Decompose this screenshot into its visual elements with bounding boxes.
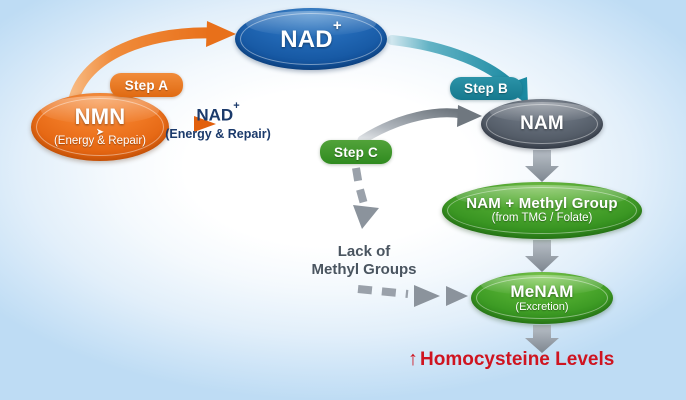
node-nad-plus-superscript: + [333, 17, 342, 34]
node-menam[interactable]: MeNAM (Excretion) [471, 272, 613, 324]
node-nam-methyl-group[interactable]: NAM + Methyl Group (from TMG / Folate) [442, 182, 642, 239]
lack-to-menam-dashed-arrow [358, 285, 468, 307]
node-nad-plus[interactable]: NAD+ [235, 8, 387, 70]
node-menam-title: MeNAM [510, 283, 573, 300]
label-nad-plus-text: NAD [196, 106, 233, 125]
label-nad-plus-main: NAD+ [148, 105, 288, 126]
label-lack-line1: Lack of [291, 243, 437, 261]
node-nad-plus-title: NAD+ [280, 26, 342, 52]
node-nam-title: NAM [520, 114, 564, 133]
node-menam-subtitle: (Excretion) [515, 302, 568, 313]
methyl-to-menam-arrow [525, 240, 559, 272]
up-arrow-icon: ↑ [408, 348, 418, 370]
label-nad-plus-superscript: + [233, 100, 239, 112]
stepc-down-dashed-arrow [353, 168, 379, 229]
label-homocysteine-levels: ↑Homocysteine Levels [408, 348, 658, 371]
label-nad-plus-energy-repair: NAD+ (Energy & Repair) [148, 105, 288, 141]
node-nmn-subtitle: (Energy & Repair) [54, 136, 146, 148]
node-nam-methyl-title: NAM + Methyl Group [466, 196, 618, 211]
badge-step-a[interactable]: Step A [110, 73, 183, 97]
nam-to-methyl-arrow [525, 150, 559, 182]
pathway-diagram: NMN ➤ (Energy & Repair) NAD+ NAM NAM + M… [0, 0, 686, 400]
node-nam[interactable]: NAM [481, 99, 603, 149]
node-nam-methyl-subtitle: (from TMG / Folate) [492, 213, 593, 225]
label-lack-of-methyl-groups: Lack of Methyl Groups [291, 243, 437, 278]
badge-step-b[interactable]: Step B [450, 77, 522, 100]
label-homocysteine-text: Homocysteine Levels [420, 349, 614, 370]
node-nad-plus-text: NAD [280, 26, 333, 53]
node-nmn-title: NMN [75, 106, 126, 128]
label-lack-line2: Methyl Groups [291, 261, 437, 279]
stepc-to-nam-arrow [362, 105, 482, 140]
label-nad-plus-subtitle: (Energy & Repair) [148, 127, 288, 141]
badge-step-c[interactable]: Step C [320, 140, 392, 164]
